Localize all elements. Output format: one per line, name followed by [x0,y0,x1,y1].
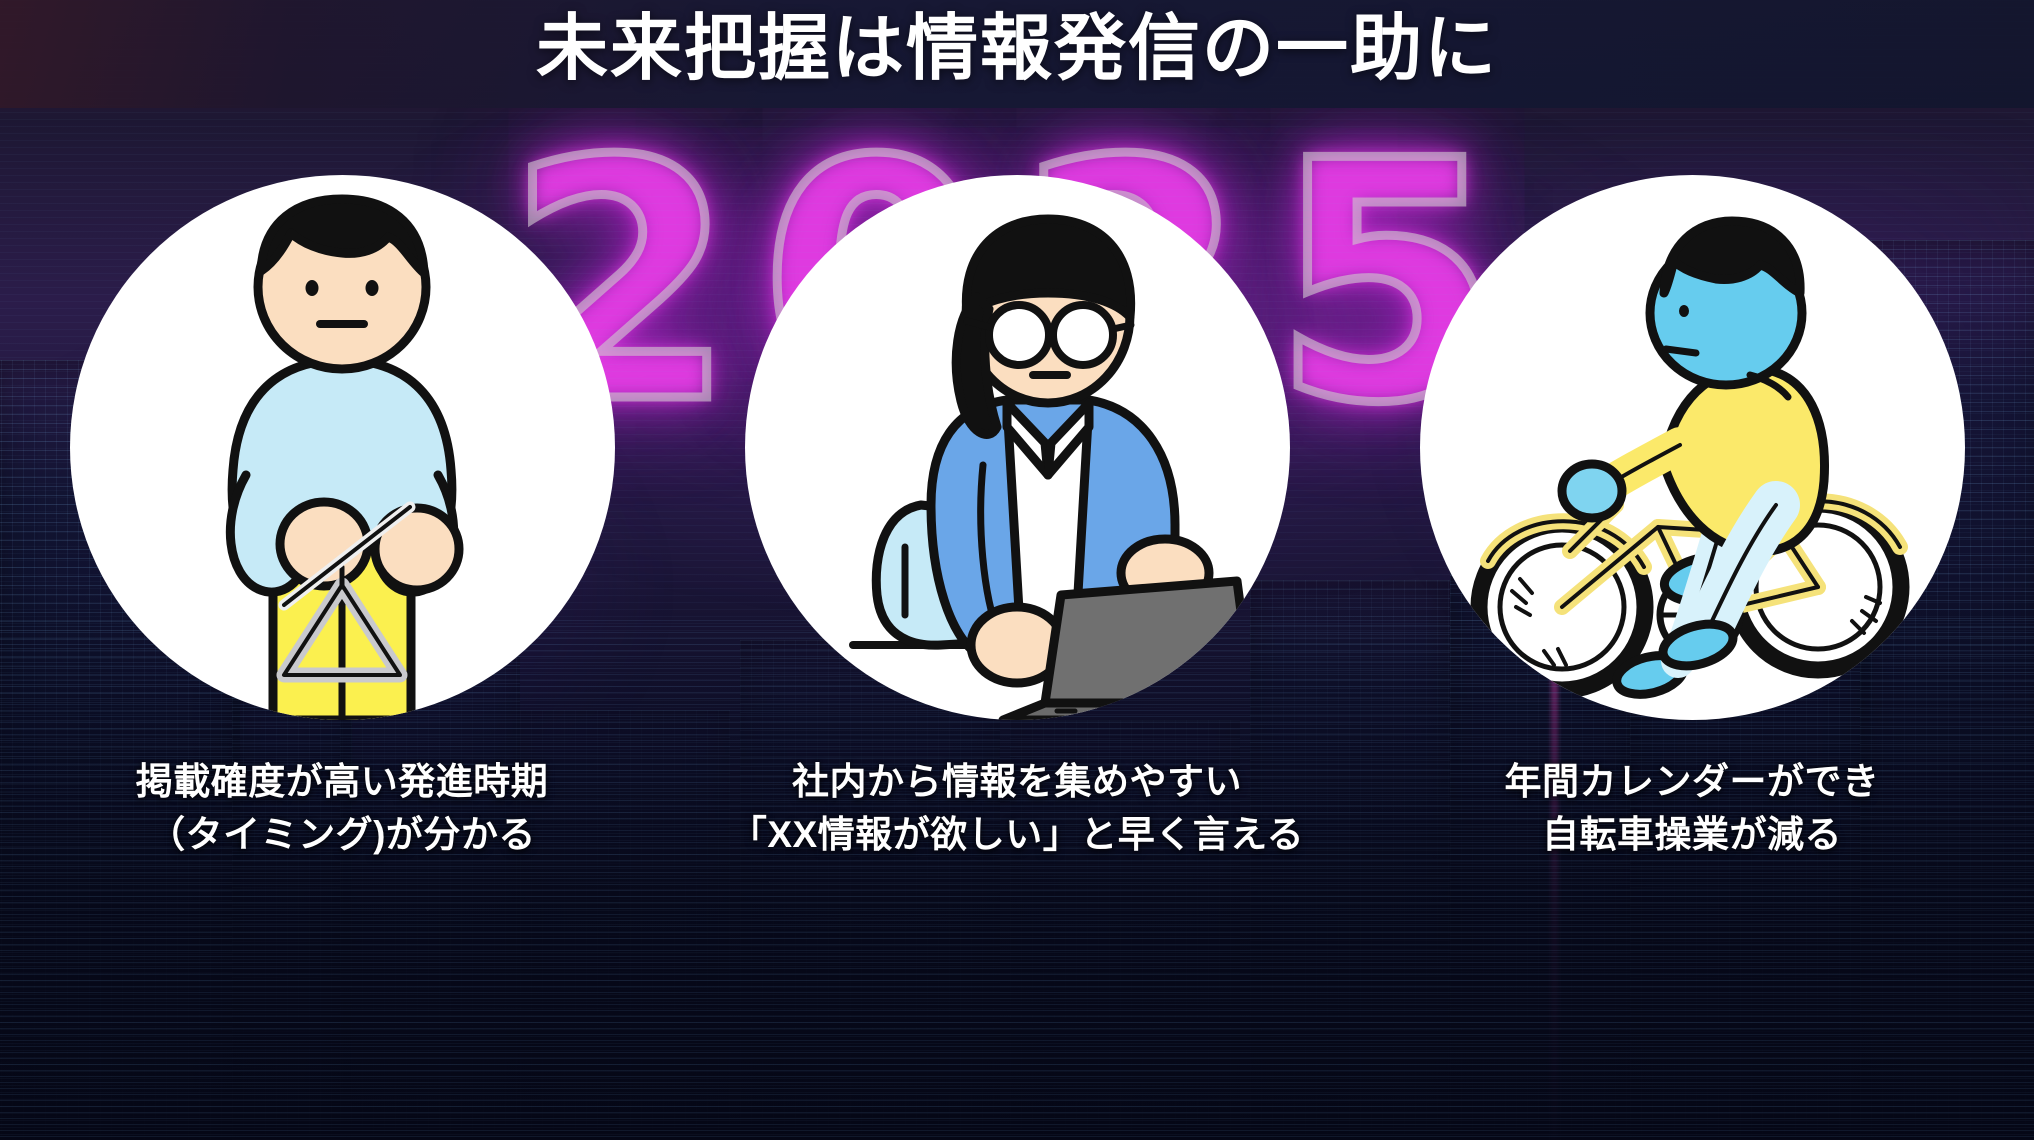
card-3: 年間カレンダーができ 自転車操業が減る [1412,175,1972,861]
card-1-caption-line-2: （タイミング)が分かる [136,809,549,862]
woman-with-glasses-on-laptop-illustration [745,175,1290,720]
cards-row: 掲載確度が高い発進時期 （タイミング)が分かる [0,175,2034,861]
card-3-caption: 年間カレンダーができ 自転車操業が減る [1505,756,1880,861]
card-2-circle [745,175,1290,720]
card-2-caption-line-2: 「XX情報が欲しい」と早く言える [730,809,1304,862]
card-2: 社内から情報を集めやすい 「XX情報が欲しい」と早く言える [737,175,1297,861]
card-3-caption-line-1: 年間カレンダーができ [1505,756,1880,809]
card-3-circle [1420,175,1965,720]
card-3-caption-line-2: 自転車操業が減る [1505,809,1880,862]
child-playing-triangle-illustration [70,175,615,720]
card-1: 掲載確度が高い発進時期 （タイミング)が分かる [62,175,622,861]
card-1-caption-line-1: 掲載確度が高い発進時期 [136,756,549,809]
card-2-caption: 社内から情報を集めやすい 「XX情報が欲しい」と早く言える [730,756,1304,861]
card-2-caption-line-1: 社内から情報を集めやすい [730,756,1304,809]
page-title: 未来把握は情報発信の一助に [0,4,2034,94]
slide-root: 2025 未来把握は情報発信の一助に [0,0,2034,1140]
person-riding-bicycle-illustration [1420,175,1965,720]
card-1-circle [70,175,615,720]
card-1-caption: 掲載確度が高い発進時期 （タイミング)が分かる [136,756,549,861]
